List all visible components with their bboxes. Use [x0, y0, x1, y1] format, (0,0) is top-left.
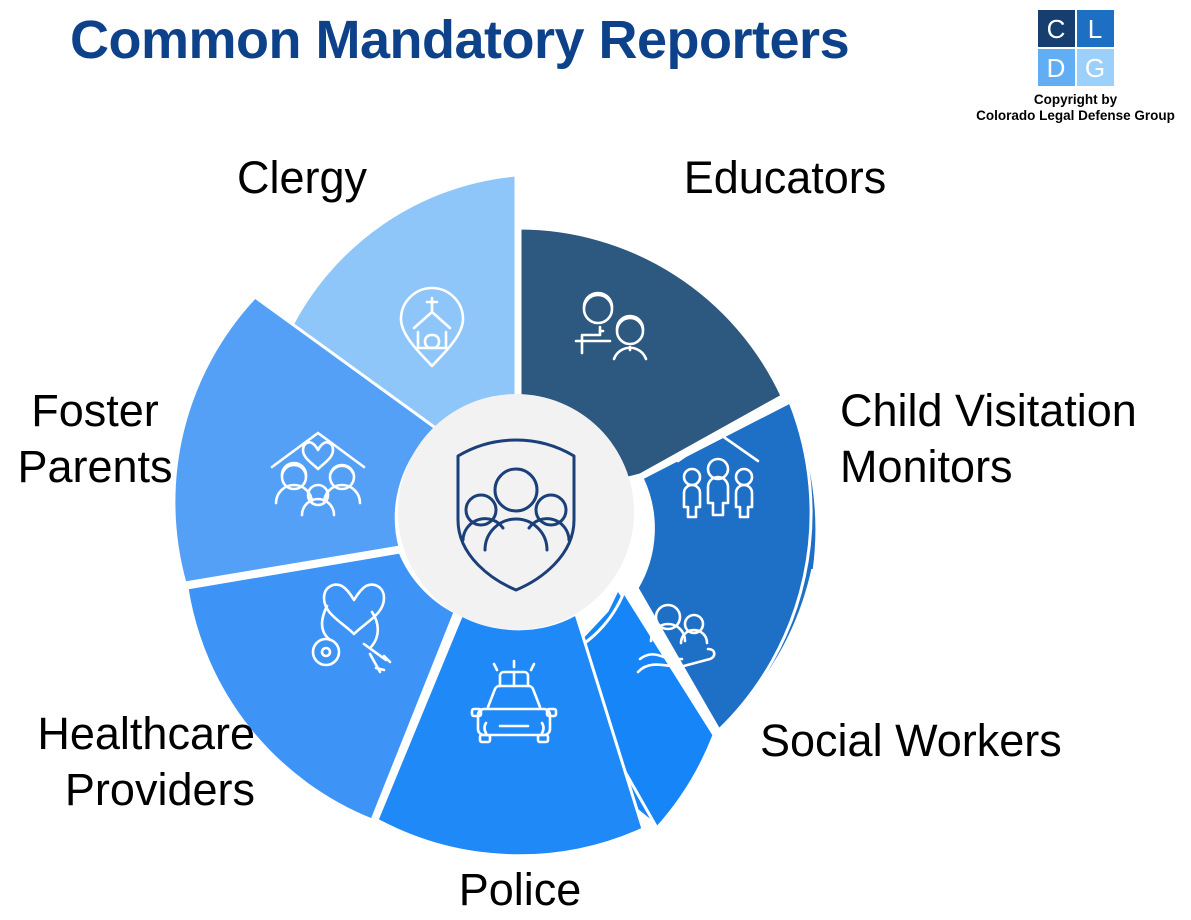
infographic-canvas: Common Mandatory Reporters C L D G Copyr… — [0, 0, 1191, 920]
segment-label-police: Police — [350, 862, 690, 918]
segment-label-child-visitation-monitors: Child Visitation Monitors — [840, 383, 1191, 495]
segment-label-foster-parents: Foster Parents — [0, 383, 190, 495]
segment-label-healthcare-providers: Healthcare Providers — [0, 706, 255, 818]
segment-label-educators: Educators — [620, 150, 950, 206]
segment-label-clergy: Clergy — [162, 150, 442, 206]
wheel-center-hub[interactable] — [398, 394, 634, 630]
segment-label-social-workers: Social Workers — [760, 713, 1160, 769]
